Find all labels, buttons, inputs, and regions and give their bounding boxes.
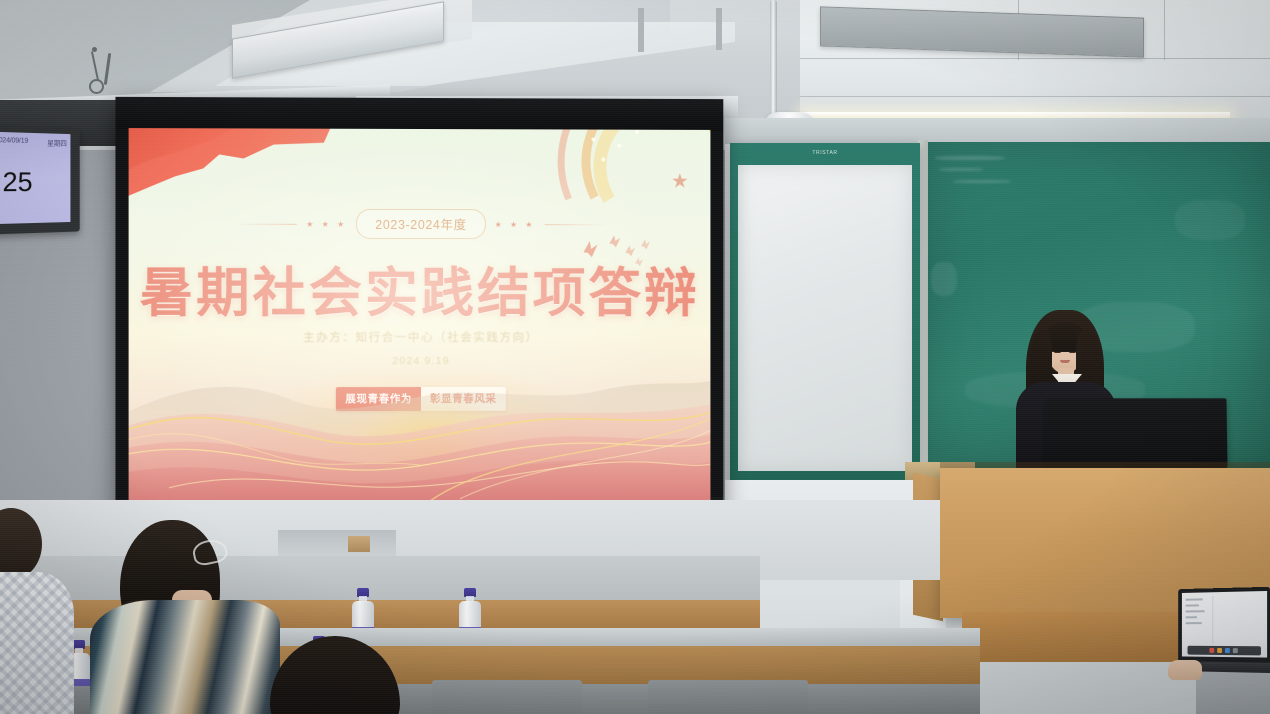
- band-line-right: [544, 224, 606, 225]
- stars-right: ★ ★ ★: [495, 220, 536, 229]
- chair-back: [648, 680, 808, 714]
- stars-left: ★ ★ ★: [306, 219, 347, 228]
- presenter-mouth: [1060, 360, 1070, 363]
- classroom-scene: 2024/09/19 星期四 0:25 TRISTAR: [0, 0, 1270, 714]
- slide-title: 暑期社会实践结项答辩: [129, 251, 711, 327]
- deco-star-icon: ★: [671, 172, 689, 192]
- dock-app-icon[interactable]: [1209, 648, 1214, 653]
- board-top-trim: [725, 118, 1270, 144]
- wave-svg: [129, 369, 711, 502]
- chair-back: [432, 680, 582, 714]
- clock-screen: 2024/09/19 星期四 0:25: [0, 132, 70, 225]
- slide-host-line: 主办方：知行合一中心（社会实践方向）: [129, 329, 711, 345]
- attendee-body-left: [0, 572, 74, 714]
- dock-app-icon[interactable]: [1225, 648, 1230, 653]
- wall-mount-hardware: [84, 47, 118, 92]
- ceiling-grid-line: [800, 96, 1270, 97]
- projection-screen: ★ ★ ★ ★ 2023-2024年度 ★ ★ ★ 暑期社会实践结项答辩 主办方…: [115, 97, 723, 533]
- whiteboard: TRISTAR: [730, 143, 920, 493]
- laptop-screen[interactable]: [1182, 591, 1267, 658]
- podium-monitor: [1044, 398, 1227, 468]
- ceiling-grid-line: [1164, 0, 1165, 60]
- year-badge: 2023-2024年度: [356, 209, 485, 239]
- screen-mount-bracket: [638, 8, 644, 52]
- attendee-hand: [1168, 660, 1202, 680]
- whiteboard-surface: [738, 165, 912, 471]
- whiteboard-brand-logo: TRISTAR: [812, 150, 837, 156]
- screen-mount-bracket: [716, 8, 722, 50]
- fluorescent-tube: [770, 0, 777, 118]
- laptop-lid: [1178, 587, 1270, 665]
- clock-header-row: 2024/09/19 星期四: [0, 137, 67, 149]
- attendee-body-center: [90, 600, 280, 714]
- clock-weekday: 星期四: [47, 138, 66, 148]
- niche-object: [348, 536, 370, 552]
- dock-app-icon[interactable]: [1233, 648, 1238, 653]
- slide-date: 2024.9.19: [129, 355, 711, 367]
- screen-top-bar: [115, 97, 723, 131]
- presentation-slide: ★ ★ ★ ★ 2023-2024年度 ★ ★ ★ 暑期社会实践结项答辩 主办方…: [129, 128, 711, 502]
- year-badge-row: ★ ★ ★ 2023-2024年度 ★ ★ ★: [129, 208, 711, 239]
- deco-arc-dots: [583, 128, 710, 206]
- band-line-left: [235, 223, 297, 224]
- clock-time: 0:25: [0, 167, 33, 199]
- laptop-dock[interactable]: [1188, 646, 1261, 656]
- ceiling-grid-line: [800, 58, 1270, 59]
- clock-date: 2024/09/19: [0, 137, 28, 148]
- slide-wave-artwork: [129, 369, 711, 502]
- dock-app-icon[interactable]: [1217, 648, 1222, 653]
- wall-info-display: 2024/09/19 星期四 0:25: [0, 126, 80, 234]
